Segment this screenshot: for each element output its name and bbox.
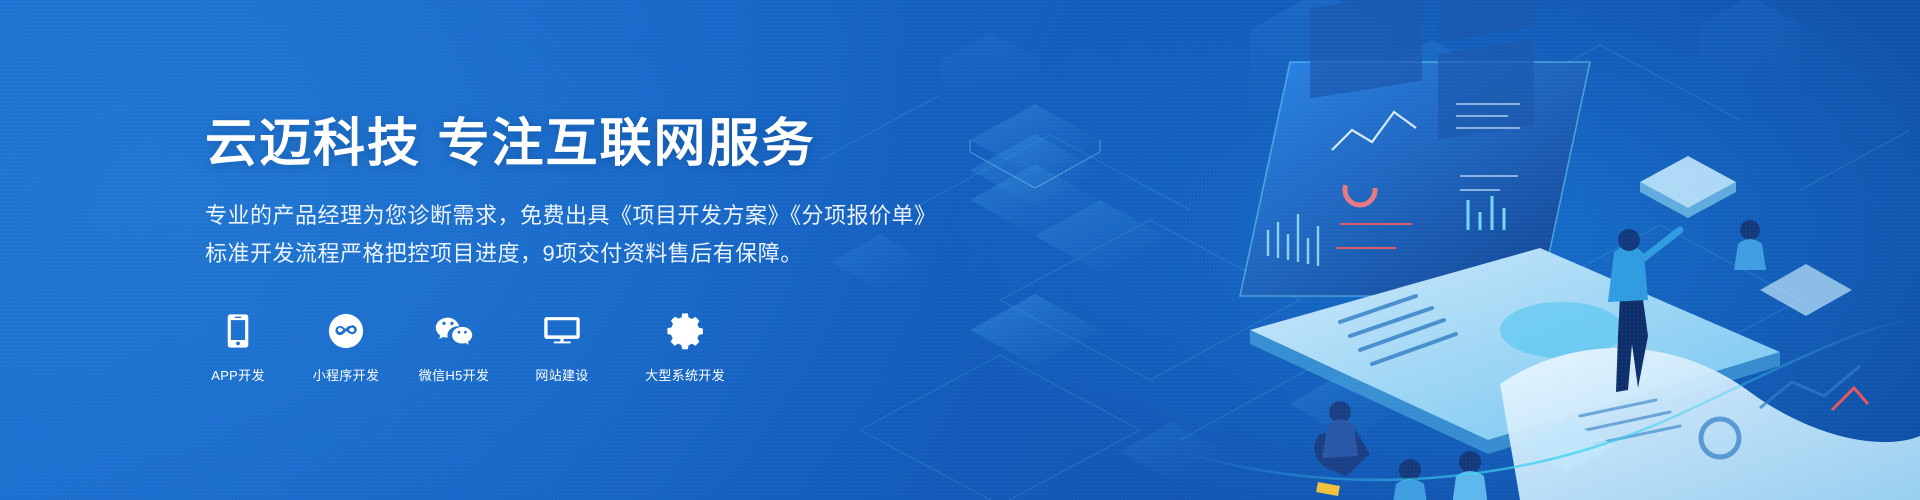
banner-subtitle: 专业的产品经理为您诊断需求，免费出具《项目开发方案》《分项报价单》 标准开发流程… (205, 197, 937, 273)
service-label: 网站建设 (535, 365, 588, 384)
monitor-icon (542, 311, 582, 351)
mobile-phone-icon (218, 311, 258, 351)
gear-icon (665, 311, 705, 351)
subtitle-line-2: 标准开发流程严格把控项目进度，9项交付资料售后有保障。 (205, 235, 937, 273)
background-geometry (820, 0, 1920, 500)
wechat-icon (434, 311, 474, 351)
service-item-mini-program[interactable]: 小程序开发 (313, 311, 379, 384)
service-label: 大型系统开发 (645, 365, 725, 384)
service-label: 微信H5开发 (419, 365, 489, 384)
service-item-app[interactable]: APP开发 (205, 311, 271, 384)
person-right-shape (1734, 220, 1766, 270)
service-label: APP开发 (211, 365, 265, 384)
service-item-large-system[interactable]: 大型系统开发 (637, 311, 733, 384)
page-title: 云迈科技 专注互联网服务 (205, 116, 937, 173)
service-item-wechat-h5[interactable]: 微信H5开发 (421, 311, 487, 384)
service-item-website[interactable]: 网站建设 (529, 311, 595, 384)
person-pair-shape (1392, 451, 1488, 500)
hero-banner: 云迈科技 专注互联网服务 专业的产品经理为您诊断需求，免费出具《项目开发方案》《… (0, 0, 1920, 500)
service-list: APP开发 小程序开发 微信H5开发 网站建设 (205, 311, 937, 384)
service-label: 小程序开发 (313, 365, 380, 384)
banner-content: 云迈科技 专注互联网服务 专业的产品经理为您诊断需求，免费出具《项目开发方案》《… (205, 0, 937, 500)
subtitle-line-1: 专业的产品经理为您诊断需求，免费出具《项目开发方案》《分项报价单》 (205, 197, 937, 235)
mini-program-icon (326, 311, 366, 351)
